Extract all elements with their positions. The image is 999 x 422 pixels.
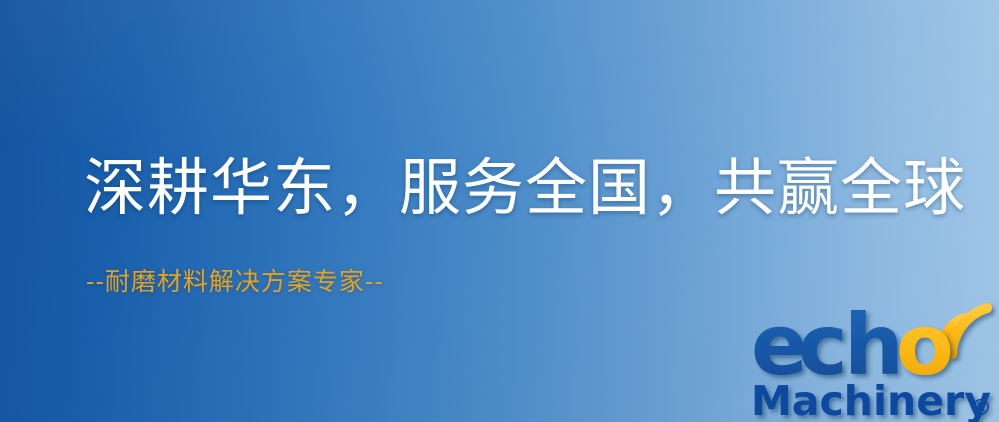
registered-trademark-icon: ® [970, 396, 992, 421]
logo-tagline: Machinery [751, 377, 991, 422]
hero-banner: 深耕华东，服务全国，共赢全球 --耐磨材料解决方案专家-- [0, 0, 999, 422]
banner-subtitle: --耐磨材料解决方案专家-- [86, 266, 384, 298]
banner-headline: 深耕华东，服务全国，共赢全球 [84, 151, 966, 225]
signal-arc-outer-icon [952, 308, 987, 354]
company-logo[interactable]: e c h o Machinery ® [748, 296, 999, 422]
